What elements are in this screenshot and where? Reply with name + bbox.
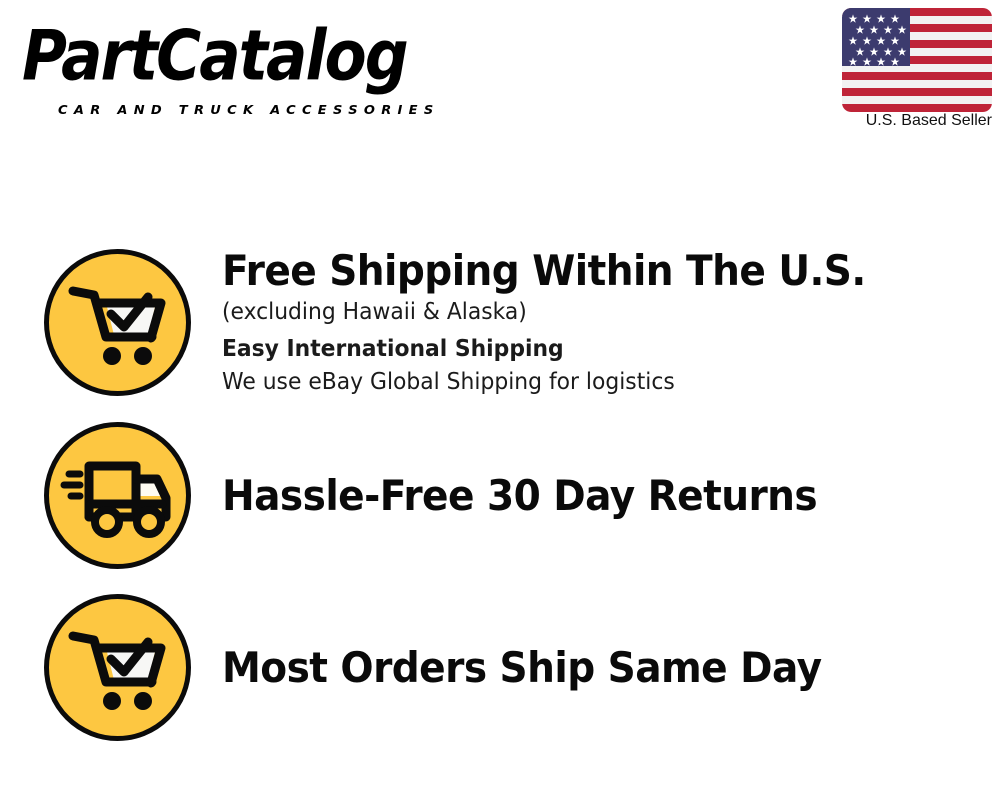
feature-heading: Hassle-Free 30 Day Returns	[222, 471, 927, 521]
feature-heading: Most Orders Ship Same Day	[222, 643, 927, 693]
feature-subline: (excluding Hawaii & Alaska)	[222, 296, 942, 329]
shopping-cart-check-icon	[44, 249, 191, 396]
feature-text-block: Free Shipping Within The U.S. (excluding…	[222, 246, 1000, 399]
feature-text-block: Hassle-Free 30 Day Returns	[222, 471, 1000, 521]
feature-icon	[44, 594, 191, 741]
feature-icon	[44, 249, 191, 396]
us-based-seller-label: U.S. Based Seller	[866, 112, 992, 129]
feature-row: Free Shipping Within The U.S. (excluding…	[0, 240, 1000, 405]
delivery-truck-icon	[44, 422, 191, 569]
brand-wordmark: PartCatalog	[22, 18, 487, 94]
feature-heading: Free Shipping Within The U.S.	[222, 246, 927, 296]
feature-subline: We use eBay Global Shipping for logistic…	[222, 366, 942, 399]
feature-subline: Easy International Shipping	[222, 333, 942, 366]
brand-tagline: CAR AND TRUCK ACCESSORIES	[58, 104, 440, 118]
feature-icon	[44, 422, 191, 569]
shopping-cart-check-icon	[44, 594, 191, 741]
feature-text-block: Most Orders Ship Same Day	[222, 643, 1000, 693]
feature-row: Hassle-Free 30 Day Returns	[0, 422, 1000, 569]
feature-row: Most Orders Ship Same Day	[0, 594, 1000, 741]
us-flag-icon	[842, 8, 992, 112]
us-based-seller-badge: U.S. Based Seller	[724, 8, 992, 130]
brand-logo: PartCatalog CAR AND TRUCK ACCESSORIES	[22, 18, 492, 118]
